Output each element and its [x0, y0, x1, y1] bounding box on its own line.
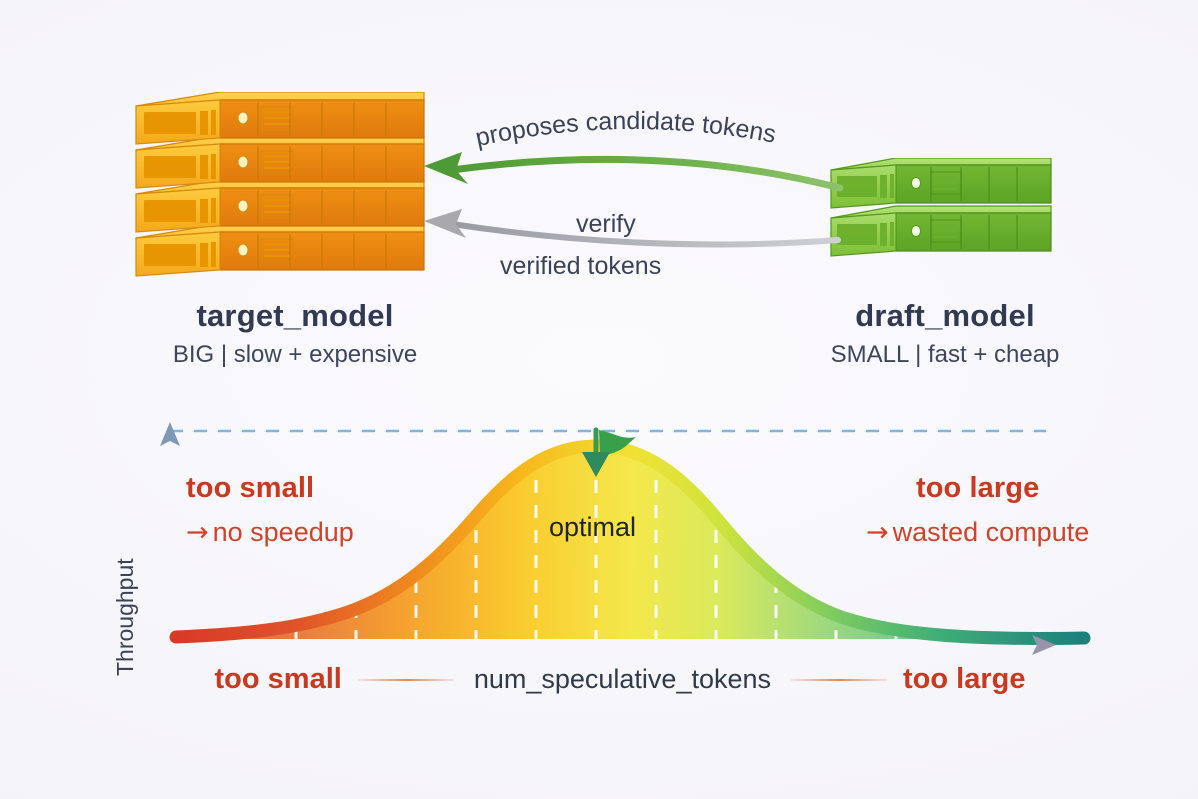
too-small-body-text: no speedup: [213, 517, 354, 547]
x-axis-caption: too small num_speculative_tokens too lar…: [160, 663, 1080, 696]
diagram-canvas: proposes candidate tokens proposes candi…: [0, 0, 1198, 799]
too-small-body: →no speedup: [186, 517, 354, 548]
right-arrow-icon: →: [186, 517, 209, 548]
x-axis-too-small: too small: [215, 663, 342, 696]
x-axis-too-large: too large: [903, 663, 1025, 696]
too-large-annotation: too large →wasted compute: [866, 472, 1089, 548]
too-small-annotation: too small →no speedup: [186, 472, 354, 548]
too-large-title: too large: [866, 472, 1089, 505]
y-axis-label: Throughput: [112, 476, 139, 676]
caption-rule-left: [358, 679, 454, 681]
too-large-body: →wasted compute: [866, 517, 1089, 548]
optimal-label: optimal: [549, 512, 636, 543]
caption-rule-right: [791, 679, 887, 681]
y-axis: [160, 422, 180, 640]
too-small-title: too small: [186, 472, 354, 505]
too-large-body-text: wasted compute: [893, 517, 1090, 547]
right-arrow-icon: →: [866, 517, 889, 548]
x-axis-label: num_speculative_tokens: [470, 664, 775, 695]
